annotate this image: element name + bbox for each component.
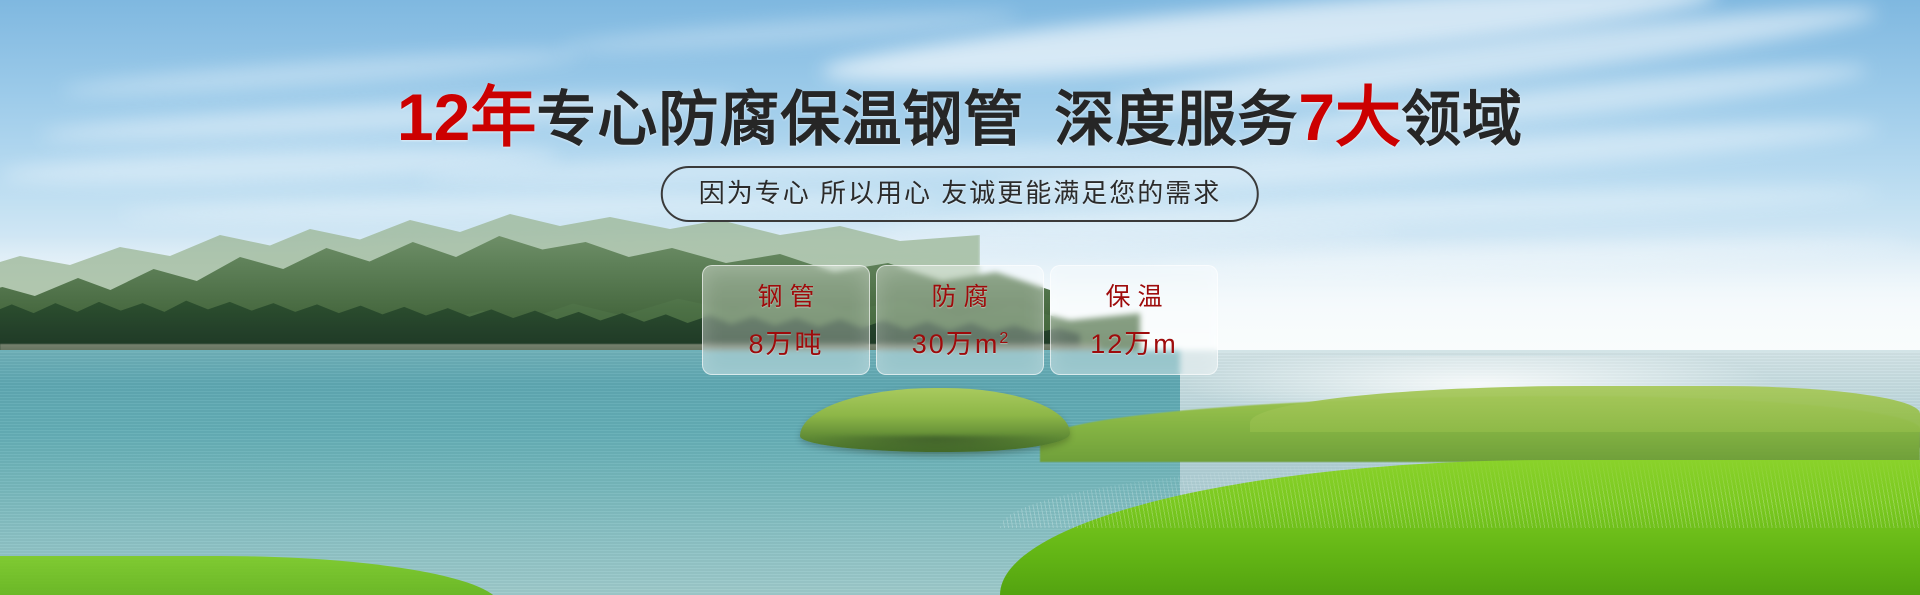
headline-focus: 专心防腐保温钢管	[536, 86, 1024, 153]
stat-card-steel-pipe[interactable]: 钢管 8万吨	[702, 265, 870, 375]
stat-label: 保温	[1098, 282, 1169, 312]
stat-value-text: 8万吨	[748, 329, 823, 359]
stat-card-anticorrosion[interactable]: 防腐 30万m2	[876, 265, 1044, 375]
banner-content: 12年专心防腐保温钢管深度服务7大领域 因为专心 所以用心 友诚更能满足您的需求…	[0, 0, 1920, 595]
stat-value-text: 12万m	[1090, 329, 1178, 359]
stat-value-text: 30万m	[912, 329, 1000, 359]
stat-value: 12万m	[1090, 324, 1178, 359]
stat-label: 钢管	[750, 282, 821, 312]
headline-seven: 7大	[1298, 80, 1401, 154]
stat-value: 8万吨	[748, 324, 823, 359]
headline-fields: 领域	[1401, 86, 1523, 153]
subtitle-text: 因为专心 所以用心 友诚更能满足您的需求	[699, 178, 1221, 208]
stat-label: 防腐	[924, 282, 995, 312]
stat-value-superscript: 2	[999, 330, 1008, 347]
banner-headline: 12年专心防腐保温钢管深度服务7大领域	[0, 84, 1920, 153]
hero-banner: 12年专心防腐保温钢管深度服务7大领域 因为专心 所以用心 友诚更能满足您的需求…	[0, 0, 1920, 595]
stat-value: 30万m2	[912, 324, 1008, 359]
stat-card-insulation[interactable]: 保温 12万m	[1050, 265, 1218, 375]
headline-service: 深度服务	[1054, 86, 1298, 153]
stat-card-group: 钢管 8万吨 防腐 30万m2 保温 12万m	[702, 265, 1218, 375]
subtitle-pill: 因为专心 所以用心 友诚更能满足您的需求	[661, 166, 1259, 222]
headline-years: 12年	[397, 80, 536, 154]
